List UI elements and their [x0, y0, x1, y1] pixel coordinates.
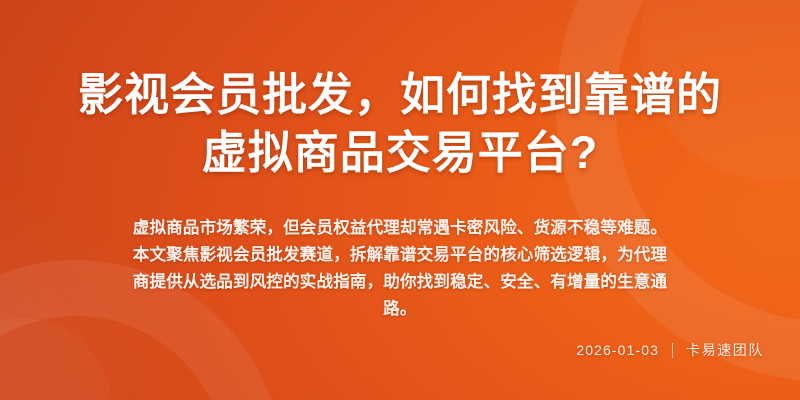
article-title-line-2: 虚拟商品交易平台? [36, 124, 764, 182]
article-summary-line-3: 商提供从选品到风控的实战指南，助你找到稳定、安全、有增量的生意通 [70, 269, 730, 296]
article-summary-line-1: 虚拟商品市场繁荣，但会员权益代理却常遇卡密风险、货源不稳等难题。 [70, 215, 730, 242]
article-title: 影视会员批发，如何找到靠谱的 虚拟商品交易平台? [36, 66, 764, 182]
article-banner: 影视会员批发，如何找到靠谱的 虚拟商品交易平台? 虚拟商品市场繁荣，但会员权益代… [0, 0, 800, 400]
publish-date: 2026-01-03 [576, 342, 659, 358]
article-title-line-1: 影视会员批发，如何找到靠谱的 [36, 66, 764, 124]
meta-divider [672, 343, 673, 358]
article-summary: 虚拟商品市场繁荣，但会员权益代理却常遇卡密风险、货源不稳等难题。 本文聚焦影视会… [36, 215, 764, 323]
article-meta: 2026-01-03 卡易速团队 [576, 340, 764, 360]
banner-content: 影视会员批发，如何找到靠谱的 虚拟商品交易平台? 虚拟商品市场繁荣，但会员权益代… [0, 0, 800, 400]
article-summary-line-2: 本文聚焦影视会员批发赛道，拆解靠谱交易平台的核心筛选逻辑，为代理 [70, 242, 730, 269]
article-summary-line-4: 路。 [70, 296, 730, 323]
author-name: 卡易速团队 [686, 340, 764, 360]
